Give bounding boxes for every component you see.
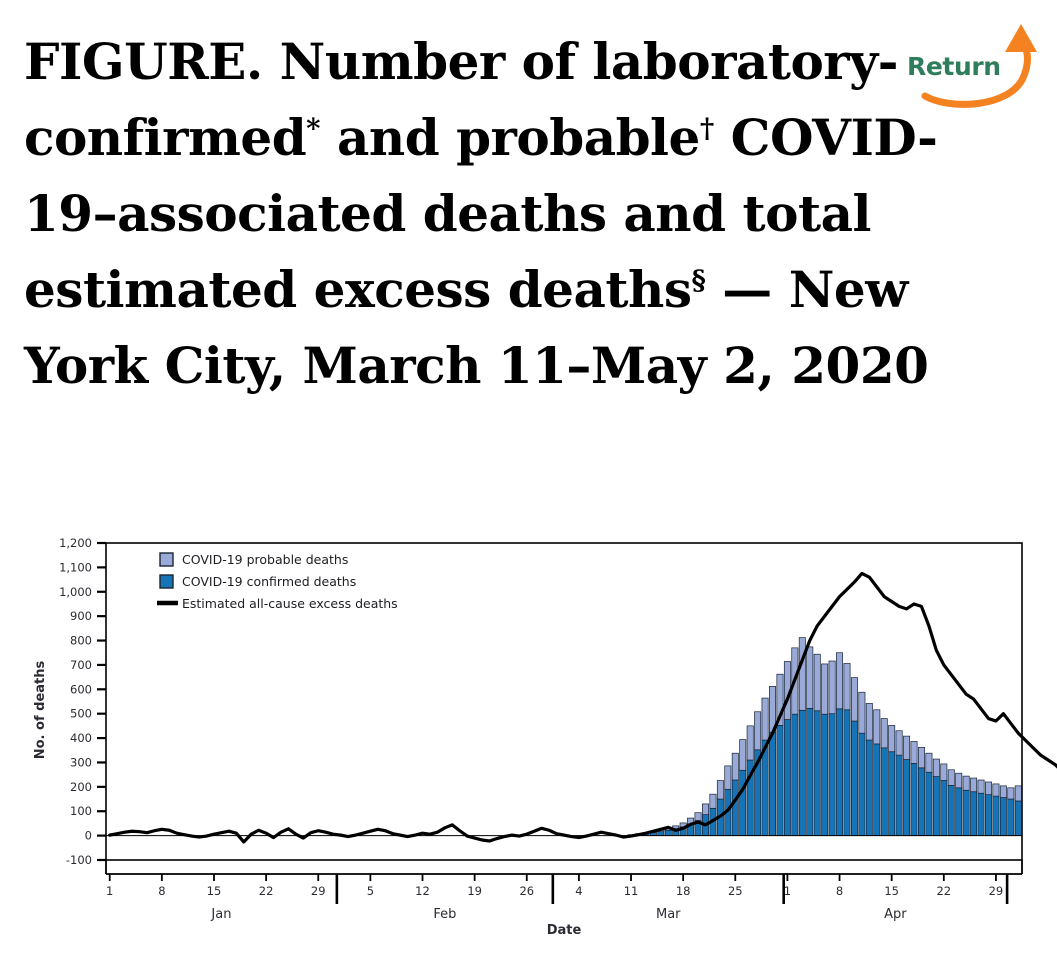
x-tick-label: 1 [784,884,791,898]
bar-probable [911,741,917,763]
legend-swatch [160,575,173,588]
bar-probable [844,663,850,709]
bar-probable [762,698,768,740]
bar-confirmed [933,777,939,836]
bar-confirmed [658,832,664,836]
bar-probable [881,719,887,748]
bar-confirmed [822,714,828,835]
covid-deaths-chart: 1,2001,1001,0009008007006005004003002001… [0,520,1057,961]
bar-probable [926,753,932,772]
y-tick-label: 1,000 [59,585,92,599]
month-label: Mar [656,907,681,922]
footnote-marker-dagger: † [700,112,714,144]
bar-probable [933,759,939,777]
x-tick-label: 26 [519,884,534,898]
x-tick-label: 22 [259,884,274,898]
bar-probable [732,753,738,780]
bar-probable [836,653,842,709]
x-tick-label: 5 [367,884,374,898]
y-tick-label: 200 [70,780,92,794]
bar-probable [829,661,835,714]
bar-confirmed [963,790,969,835]
x-tick-label: 11 [624,884,639,898]
x-tick-label: 19 [467,884,482,898]
bar-probable [851,678,857,721]
bar-probable [948,770,954,786]
x-tick-label: 12 [415,884,430,898]
bar-probable [941,764,947,781]
legend-label: COVID-19 probable deaths [182,552,348,567]
bar-probable [747,726,753,760]
x-tick-label: 8 [836,884,843,898]
legend-label: COVID-19 confirmed deaths [182,574,356,589]
bar-confirmed [985,795,991,836]
bar-probable [717,781,723,800]
bar-confirmed [978,793,984,835]
footnote-marker-section: § [691,264,705,296]
bar-probable [956,773,962,788]
x-tick-label: 1 [106,884,113,898]
x-tick-label: 25 [728,884,743,898]
y-tick-label: 800 [70,634,92,648]
bar-confirmed [866,740,872,836]
return-button[interactable]: Return [905,22,1045,110]
bar-probable [978,780,984,793]
y-tick-label: 600 [70,682,92,696]
bar-confirmed [792,714,798,835]
bar-confirmed [1008,799,1014,836]
month-label: Apr [884,907,907,922]
y-tick-label: 1,100 [59,560,92,574]
figure-page: FIGURE. Number of laboratory-confirmed* … [0,0,1057,961]
bar-probable [1008,788,1014,799]
y-tick-label: 300 [70,755,92,769]
x-tick-label: 15 [884,884,899,898]
bar-probable [903,736,909,759]
bar-confirmed [941,781,947,836]
bar-probable [725,766,731,789]
bar-confirmed [956,788,962,836]
legend-swatch [160,553,173,566]
bar-probable [859,692,865,733]
bar-confirmed [777,725,783,835]
bar-probable [814,654,820,711]
x-tick-label: 8 [158,884,165,898]
y-tick-label: 100 [70,804,92,818]
month-label: Jan [210,907,231,922]
bar-probable [807,647,813,708]
bar-confirmed [903,760,909,836]
bar-probable [1015,786,1021,801]
bar-confirmed [732,780,738,836]
bar-confirmed [665,830,671,835]
bar-confirmed [829,714,835,836]
x-axis-title: Date [547,923,582,938]
bar-confirmed [926,772,932,835]
month-label: Feb [433,907,456,922]
bar-probable [866,703,872,740]
y-tick-label: -100 [66,853,92,867]
bar-probable [1000,786,1006,798]
bar-confirmed [918,768,924,836]
bar-confirmed [1000,798,1006,836]
bar-probable [918,747,924,767]
bar-confirmed [740,770,746,835]
bar-confirmed [889,752,895,836]
bar-confirmed [911,763,917,835]
x-tick-label: 29 [311,884,326,898]
bar-probable [993,784,999,796]
y-axis-title: No. of deaths [33,660,48,759]
y-tick-label: 1,200 [59,536,92,550]
x-tick-label: 4 [575,884,582,898]
footnote-marker-asterisk: * [306,112,320,144]
title-block: FIGURE. Number of laboratory-confirmed* … [24,24,1024,404]
bar-confirmed [807,708,813,835]
y-tick-label: 700 [70,658,92,672]
bar-confirmed [814,711,820,836]
bar-probable [970,778,976,792]
bar-confirmed [769,732,775,835]
bar-probable [799,638,805,711]
bar-probable [710,794,716,808]
x-tick-label: 29 [989,884,1004,898]
y-tick-label: 400 [70,731,92,745]
x-tick-label: 18 [676,884,691,898]
y-tick-label: 0 [85,829,92,843]
bar-confirmed [874,744,880,836]
bar-confirmed [844,710,850,836]
bar-probable [695,813,701,821]
y-axis: 1,2001,1001,0009008007006005004003002001… [59,536,106,867]
chart-container: 1,2001,1001,0009008007006005004003002001… [0,520,1057,961]
bar-confirmed [784,720,790,836]
bar-probable [740,740,746,771]
y-tick-label: 900 [70,609,92,623]
bar-probable [822,664,828,714]
bar-probable [985,782,991,795]
bar-probable [754,712,760,750]
bar-probable [889,725,895,751]
bar-confirmed [1015,801,1021,836]
x-axis: 18152229Jan5121926Feb4111825Mar18152229A… [106,860,1022,922]
bar-confirmed [836,709,842,836]
x-tick-label: 15 [207,884,222,898]
bar-confirmed [851,721,857,836]
legend-label: Estimated all-cause excess deaths [182,596,398,611]
y-tick-label: 500 [70,707,92,721]
x-tick-label: 22 [936,884,951,898]
bar-probable [874,710,880,744]
return-label: Return [907,52,1001,81]
bar-confirmed [970,792,976,836]
bar-confirmed [993,796,999,836]
bar-confirmed [859,733,865,835]
page-title: FIGURE. Number of laboratory-confirmed* … [24,24,1014,404]
bar-confirmed [799,710,805,835]
bar-confirmed [948,785,954,835]
bar-probable [702,804,708,815]
bar-confirmed [881,748,887,836]
bar-probable [963,776,969,790]
bar-confirmed [896,755,902,835]
bar-probable [896,731,902,755]
